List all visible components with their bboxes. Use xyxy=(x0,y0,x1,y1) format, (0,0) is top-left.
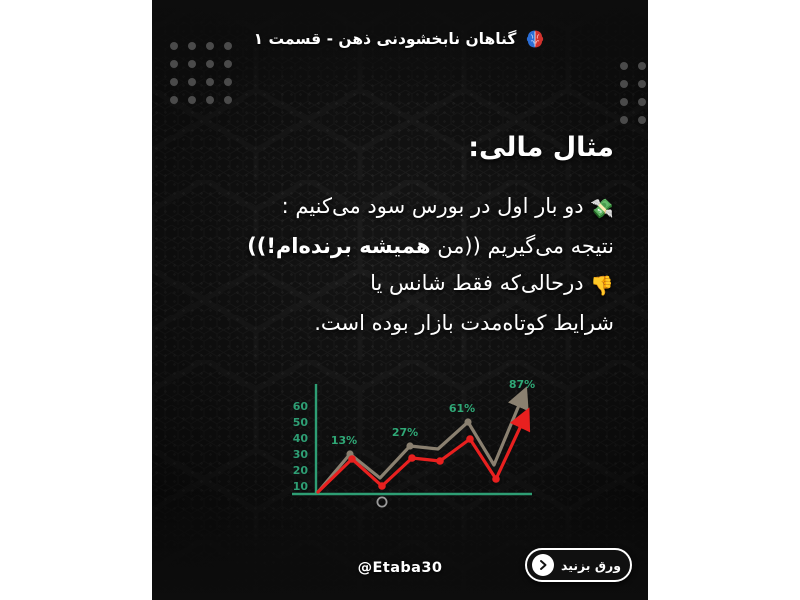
svg-text:60: 60 xyxy=(293,400,309,413)
body-line-2-suffix: برنده‌ام!)) xyxy=(247,234,359,258)
dot-grid-decoration-left xyxy=(170,42,232,104)
thumbs-down-emoji: 👎 xyxy=(590,275,614,297)
growth-chart: 10 20 30 40 50 60 xyxy=(272,372,572,512)
body-line-2: نتیجه می‌گیریم ((من همیشه برنده‌ام!)) xyxy=(184,228,614,265)
header-title: گناهان نابخشودنی ذهن - قسمت ۱ xyxy=(254,30,517,48)
chart-y-axis-labels: 10 20 30 40 50 60 xyxy=(293,400,309,493)
money-wings-emoji: 💸 xyxy=(590,198,614,220)
swipe-button[interactable]: ورق بزنید xyxy=(525,548,632,582)
chart-annotation-13: 13% xyxy=(331,434,357,447)
body-line-4-text: شرایط کوتاه‌مدت بازار بوده است. xyxy=(314,311,614,335)
body-line-2-prefix: نتیجه می‌گیریم ((من xyxy=(431,234,614,258)
body-line-4: شرایط کوتاه‌مدت بازار بوده است. xyxy=(184,305,614,342)
chart-annotation-61: 61% xyxy=(449,402,475,415)
screenshot-canvas: گناهان نابخشودنی ذهن - قسمت ۱ مثال مالی:… xyxy=(0,0,800,600)
brain-icon xyxy=(524,28,546,50)
chart-baseline-marker xyxy=(377,497,386,506)
chart-svg: 10 20 30 40 50 60 xyxy=(272,372,572,512)
body-line-3: 👎 درحالی‌که فقط شانس یا xyxy=(184,265,614,305)
chart-annotation-87: 87% xyxy=(509,378,535,391)
svg-text:40: 40 xyxy=(293,432,309,445)
chart-annotation-27: 27% xyxy=(392,426,418,439)
body-line-1: 💸 دو بار اول در بورس سود می‌کنیم : xyxy=(184,188,614,228)
chevron-right-icon xyxy=(532,554,554,576)
body-line-3-text: درحالی‌که فقط شانس یا xyxy=(370,271,584,295)
header-bar: گناهان نابخشودنی ذهن - قسمت ۱ xyxy=(152,28,648,50)
dot-grid-decoration-right xyxy=(620,62,648,124)
page-title: مثال مالی: xyxy=(468,132,614,163)
body-line-2-emphasis: همیشه xyxy=(359,234,430,258)
svg-text:30: 30 xyxy=(293,448,309,461)
svg-text:10: 10 xyxy=(293,480,309,493)
swipe-button-label: ورق بزنید xyxy=(561,558,621,573)
svg-text:20: 20 xyxy=(293,464,309,477)
svg-text:50: 50 xyxy=(293,416,309,429)
post-frame: گناهان نابخشودنی ذهن - قسمت ۱ مثال مالی:… xyxy=(152,0,648,600)
body-line-1-text: دو بار اول در بورس سود می‌کنیم : xyxy=(282,194,584,218)
body-paragraph: 💸 دو بار اول در بورس سود می‌کنیم : نتیجه… xyxy=(184,188,614,342)
